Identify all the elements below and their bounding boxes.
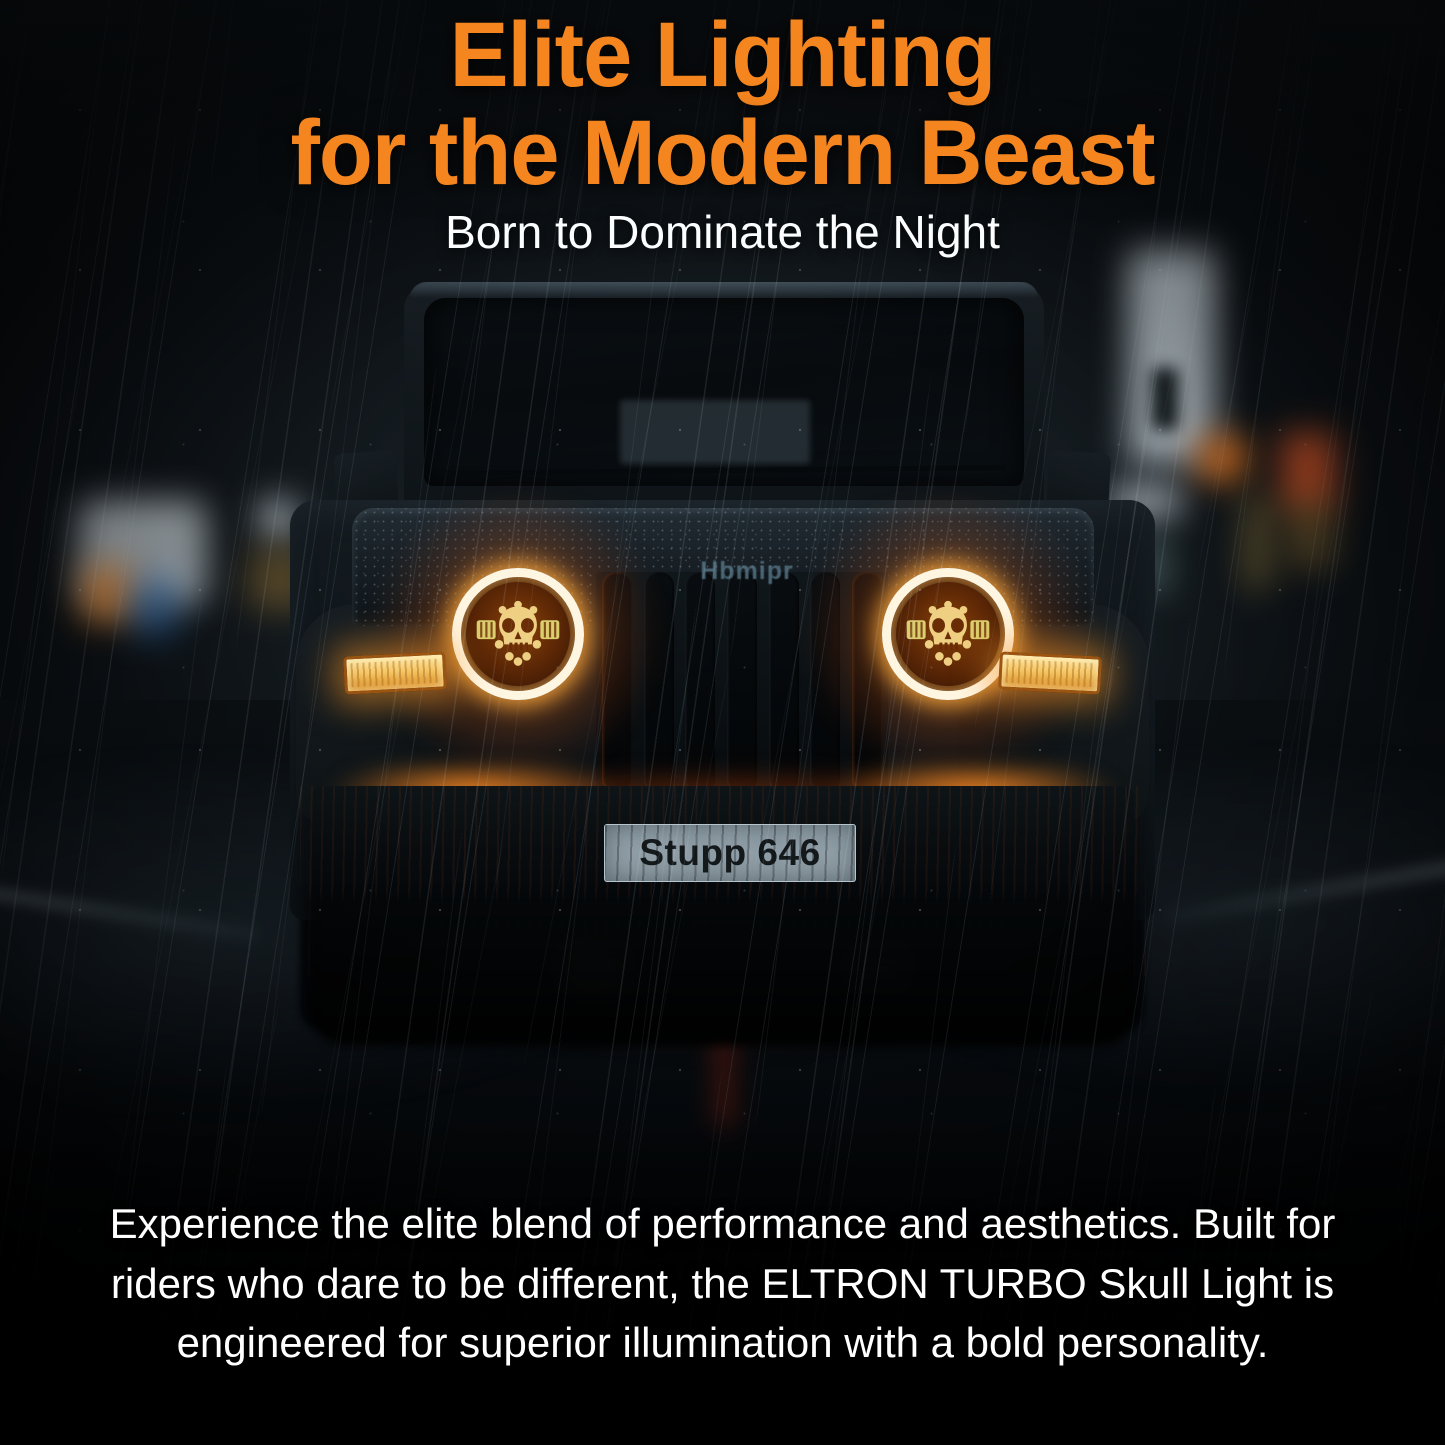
headline-line-1: Elite Lighting	[29, 6, 1416, 104]
headline-line-2: for the Modern Beast	[29, 104, 1416, 202]
headline: Elite Lighting for the Modern Beast	[29, 6, 1416, 203]
subheadline: Born to Dominate the Night	[0, 205, 1445, 259]
body-copy: Experience the elite blend of performanc…	[85, 1194, 1360, 1373]
product-poster: Hbmipr	[0, 0, 1445, 1445]
